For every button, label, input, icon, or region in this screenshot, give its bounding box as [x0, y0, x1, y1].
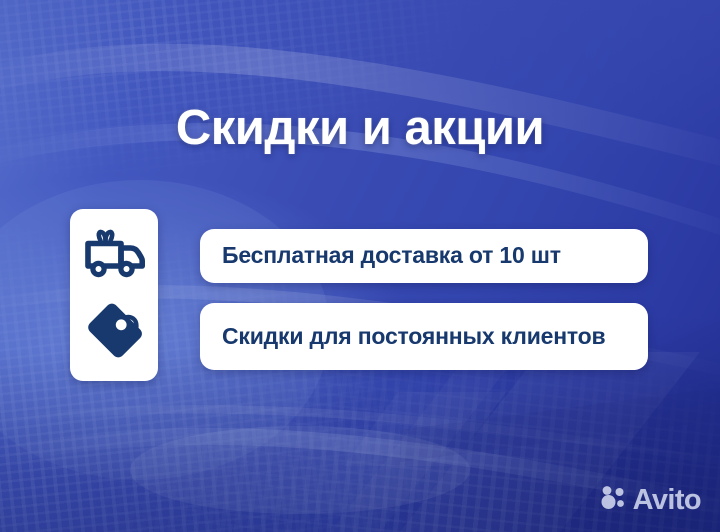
avito-brand-text: Avito	[633, 486, 701, 515]
page-title: Скидки и акции	[0, 103, 720, 154]
offer-pill-loyalty-discount[interactable]: Скидки для постоянных клиентов	[200, 303, 648, 370]
offer-pill-label: Скидки для постоянных клиентов	[222, 323, 605, 350]
promo-banner: Скидки и акции	[0, 0, 720, 532]
offer-pill-delivery[interactable]: Бесплатная доставка от 10 шт	[200, 229, 648, 283]
avito-watermark: Avito	[600, 485, 701, 516]
gift-truck-icon	[83, 229, 145, 279]
icon-card	[70, 209, 158, 381]
offer-pill-label: Бесплатная доставка от 10 шт	[222, 242, 561, 269]
avito-dots-icon	[600, 485, 626, 516]
price-tag-icon	[85, 303, 143, 361]
